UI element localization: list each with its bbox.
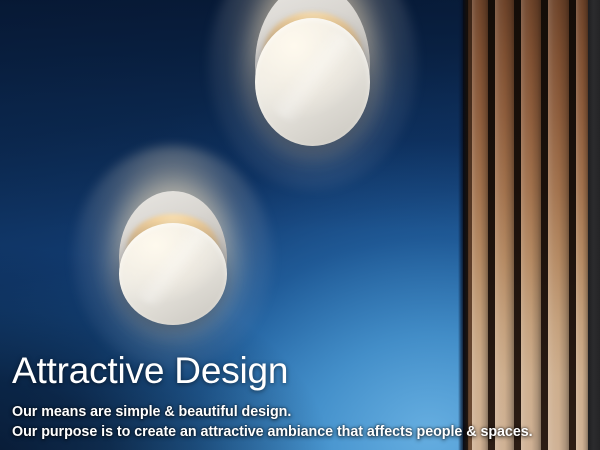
lamp-sheen-upper [262, 26, 363, 126]
wall-lamp-lower [119, 191, 227, 325]
subline-secondary: Our purpose is to create an attractive a… [12, 423, 592, 442]
page-title: Attractive Design [12, 352, 592, 389]
banner-text-block: Attractive Design Our means are simple &… [12, 352, 592, 442]
subline-primary: Our means are simple & beautiful design. [12, 403, 592, 422]
wall-lamp-upper [255, 0, 370, 146]
attractive-design-banner: Attractive Design Our means are simple &… [0, 0, 600, 450]
lamp-sheen-lower [125, 226, 220, 309]
